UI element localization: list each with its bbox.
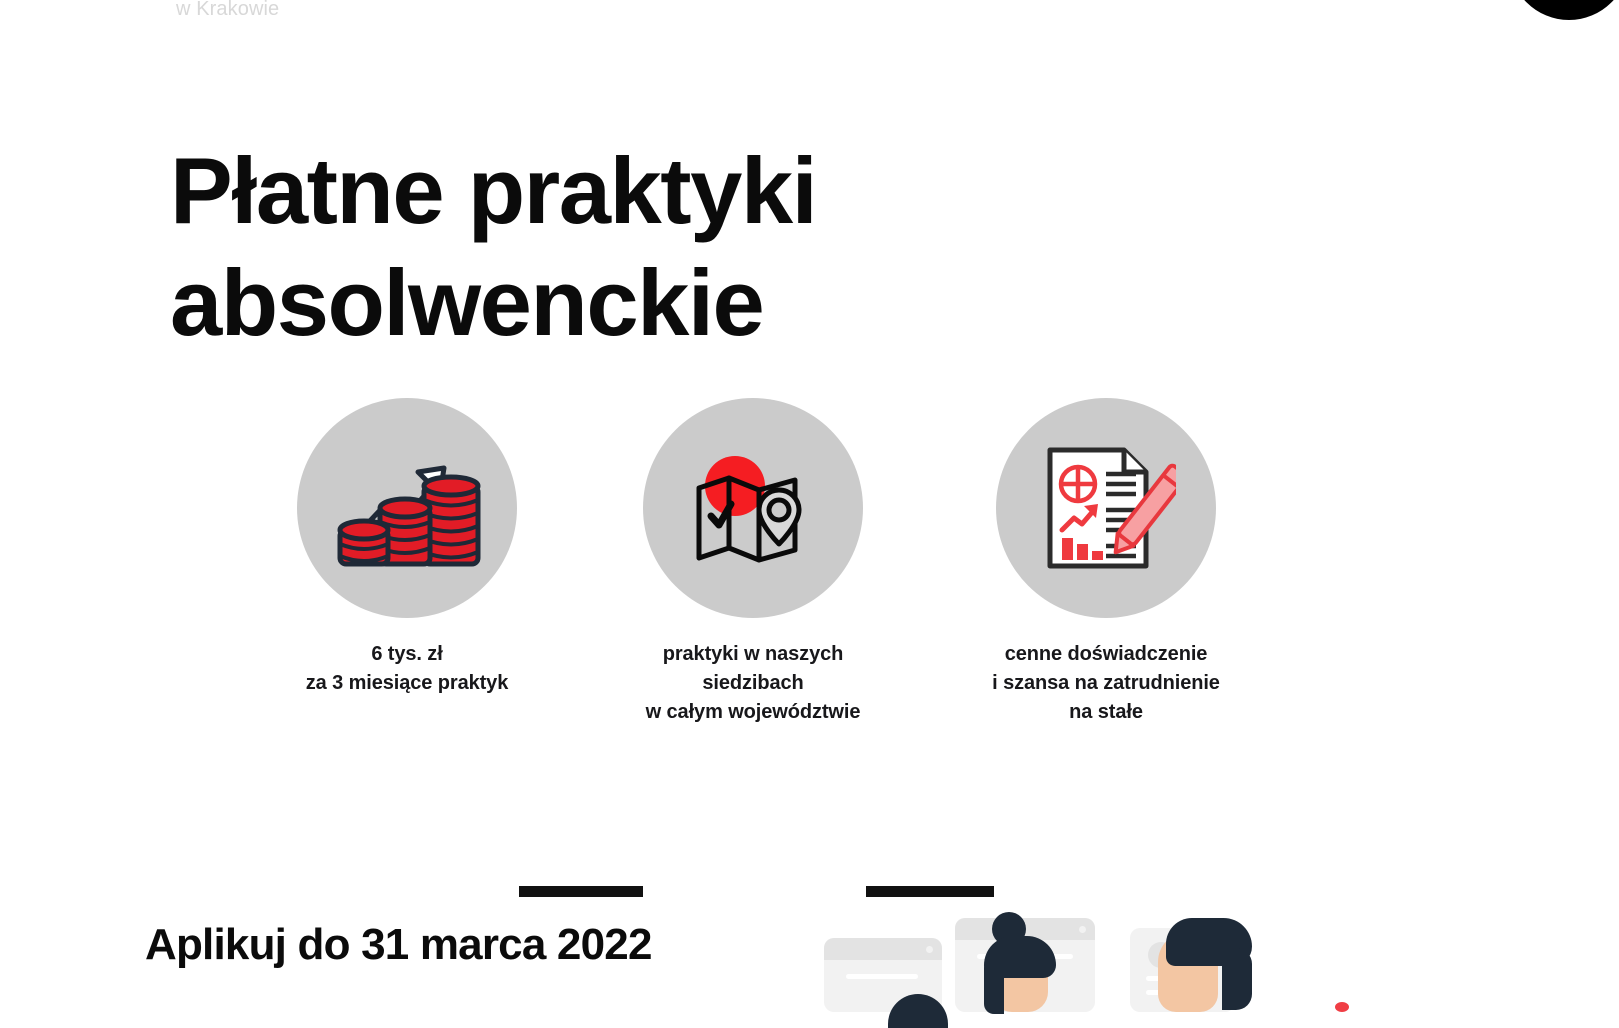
person-figure [972, 912, 1068, 1012]
cta-deadline-text: Aplikuj do 31 marca 2022 [145, 918, 652, 972]
coins-growth-icon [332, 438, 482, 578]
feature-item-experience: cenne doświadczenie i szansa na zatrudni… [956, 382, 1256, 727]
person-figure [888, 994, 948, 1024]
feature-icon-circle [643, 398, 863, 618]
feature-caption: praktyki w naszych siedzibach w całym wo… [603, 640, 903, 727]
feature-icon-circle [996, 398, 1216, 618]
document-pencil-chart-icon [1036, 438, 1176, 578]
feature-caption: cenne doświadczenie i szansa na zatrudni… [956, 640, 1256, 727]
red-accent-dot [1335, 1002, 1349, 1012]
connector-line-1 [519, 886, 643, 897]
map-location-pin-icon [683, 438, 823, 578]
feature-item-salary: 6 tys. zł za 3 miesiące praktyk [257, 382, 557, 698]
corner-accent-shape [1509, 0, 1619, 20]
window-dot-icon [1079, 926, 1086, 933]
feature-caption: 6 tys. zł za 3 miesiące praktyk [257, 640, 557, 698]
brand-kicker: w Krakowie [176, 0, 279, 22]
feature-band: 6 tys. zł za 3 miesiące praktyk praktyk [0, 382, 1619, 762]
feature-item-locations: praktyki w naszych siedzibach w całym wo… [603, 382, 903, 727]
hair-side-shape [1222, 948, 1252, 1010]
person-figure [1148, 918, 1258, 1012]
hair-shape [888, 994, 948, 1028]
window-text-line [846, 974, 918, 979]
feature-icon-circle [297, 398, 517, 618]
window-dot-icon [926, 946, 933, 953]
page-title: Płatne praktyki absolwenckie [170, 135, 930, 359]
people-browser-windows-illustration [800, 890, 1360, 1012]
window-titlebar [824, 938, 942, 960]
hair-side-shape [984, 958, 1004, 1014]
